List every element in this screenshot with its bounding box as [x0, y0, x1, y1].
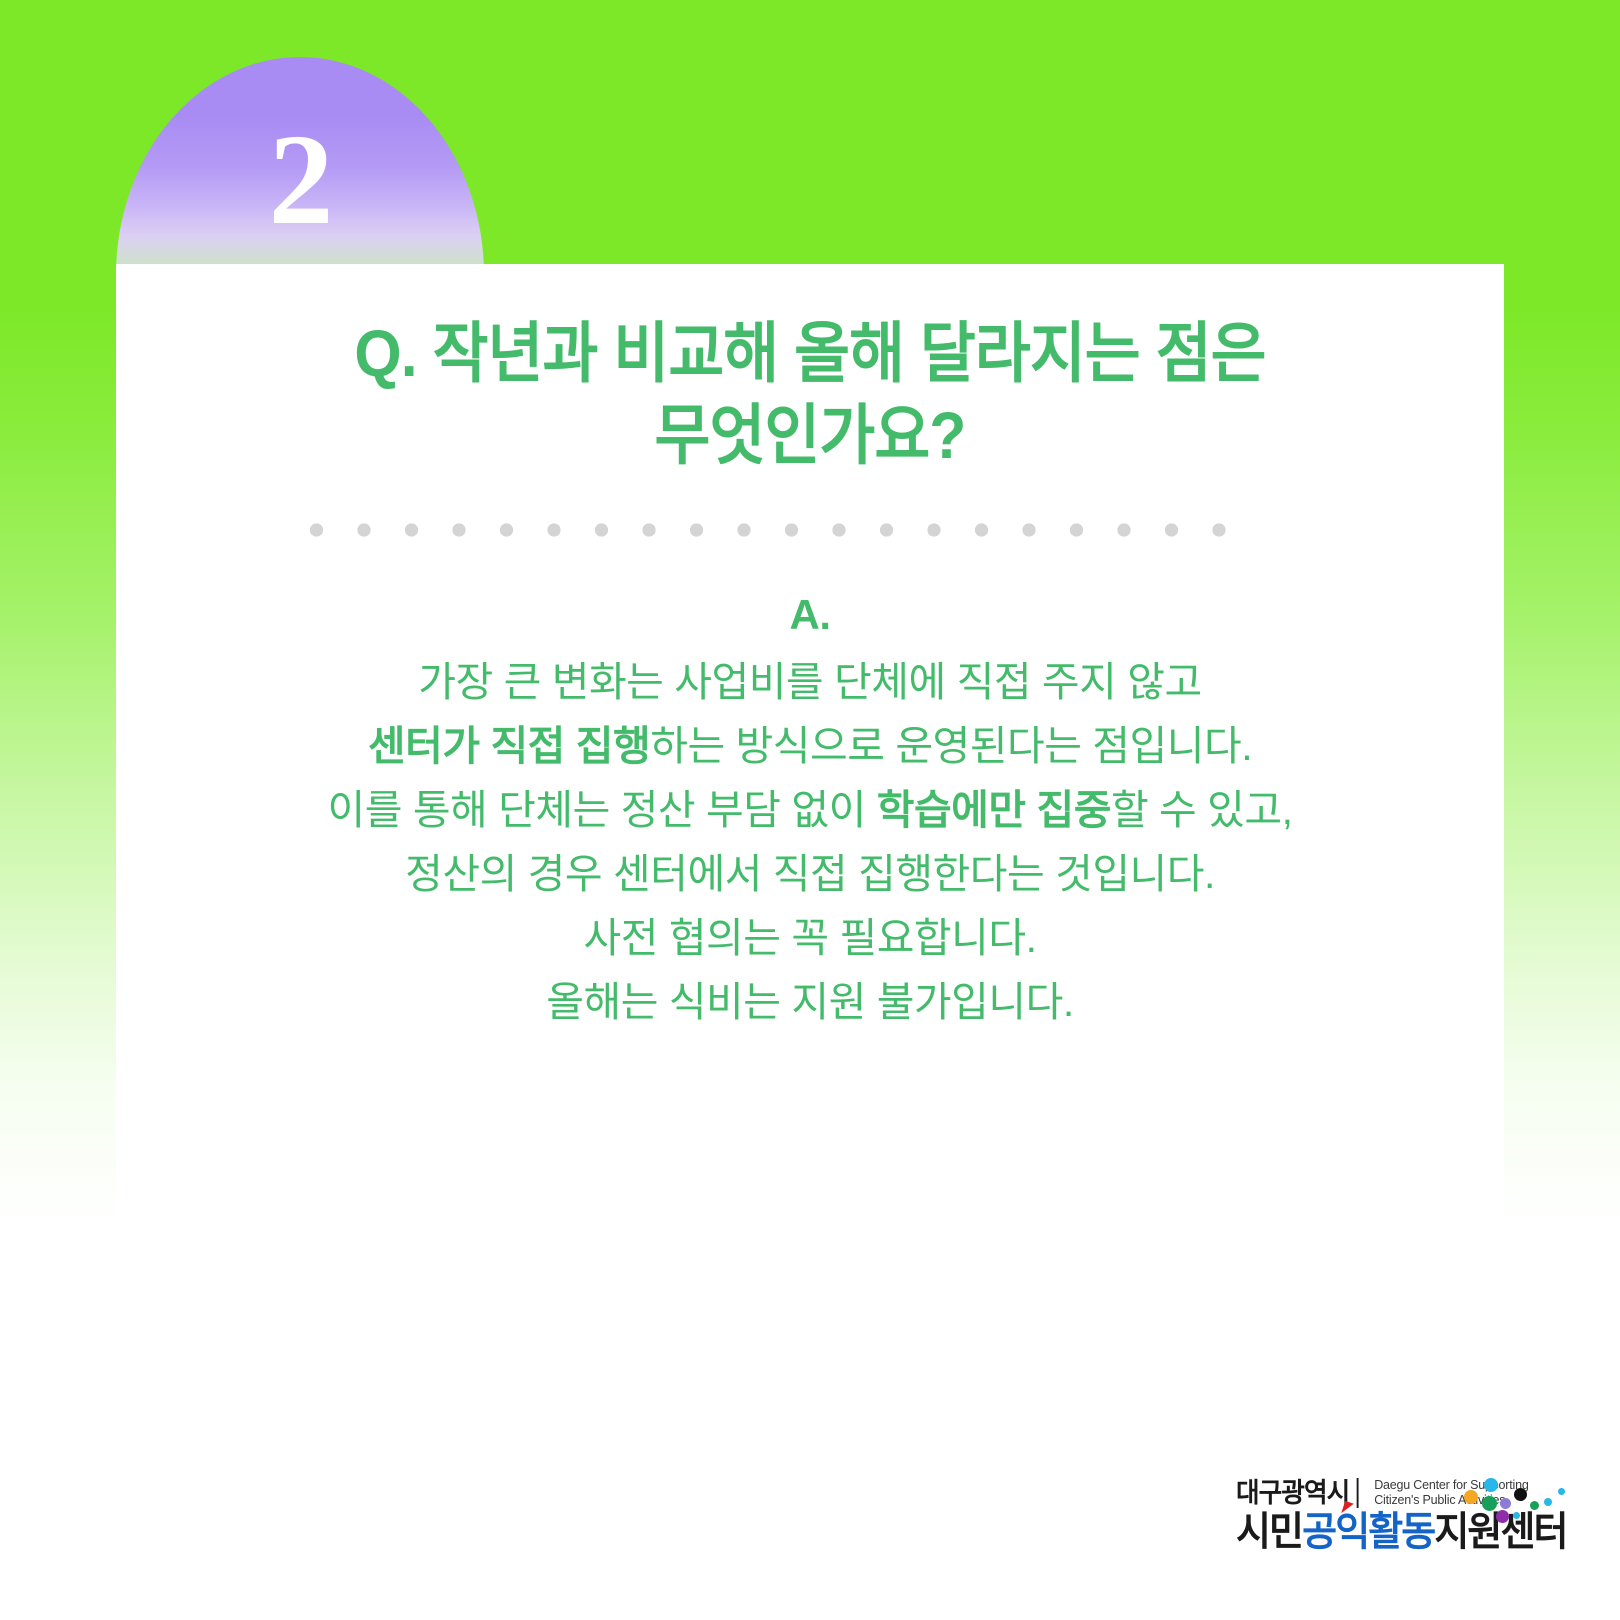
organization-logo: 대구광역시 Daegu Center for Supporting Citize…: [1236, 1478, 1566, 1568]
answer-block: A. 가장 큰 변화는 사업비를 단체에 직접 주지 않고 센터가 직접 집행하…: [156, 586, 1464, 1034]
answer-line: 정산의 경우 센터에서 직접 집행한다는 것입니다.: [156, 842, 1464, 906]
question-title: Q. 작년과 비교해 올해 달라지는 점은 무엇인가요?: [227, 312, 1394, 476]
logo-city-name: 대구광역시: [1236, 1478, 1359, 1508]
logo-name-highlight: 공익활동: [1302, 1510, 1434, 1554]
answer-line: 올해는 식비는 지원 불가입니다.: [156, 970, 1464, 1034]
answer-line: 센터가 직접 집행하는 방식으로 운영된다는 점입니다.: [156, 714, 1464, 778]
content-card: Q. 작년과 비교해 올해 달라지는 점은 무엇인가요? A. 가장 큰 변화는…: [116, 264, 1504, 1232]
logo-dot-cluster-icon: [1464, 1476, 1566, 1522]
answer-marker: A.: [156, 586, 1464, 644]
question-line-1: Q. 작년과 비교해 올해 달라지는 점은: [227, 312, 1394, 394]
answer-line: 이를 통해 단체는 정산 부담 없이 학습에만 집중할 수 있고,: [156, 778, 1464, 842]
answer-line: 사전 협의는 꼭 필요합니다.: [156, 906, 1464, 970]
infographic-card: 2 Q. 작년과 비교해 올해 달라지는 점은 무엇인가요? A. 가장 큰 변…: [0, 0, 1620, 1620]
logo-name-part-1: 시민: [1236, 1510, 1302, 1554]
step-number-label: 2: [116, 115, 484, 245]
answer-line: 가장 큰 변화는 사업비를 단체에 직접 주지 않고: [156, 650, 1464, 714]
question-line-2: 무엇인가요?: [227, 394, 1394, 476]
dotted-divider: [310, 522, 1260, 538]
